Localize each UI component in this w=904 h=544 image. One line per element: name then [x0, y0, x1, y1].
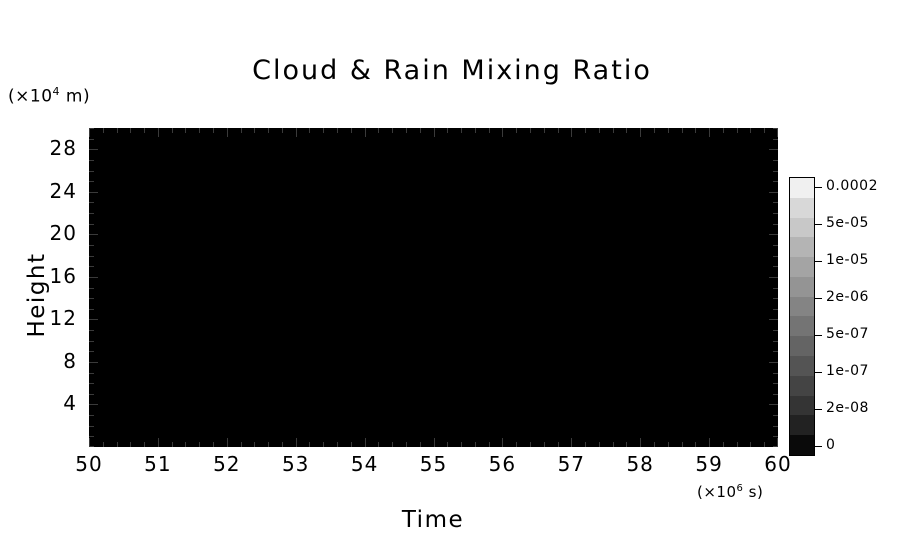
- axis-tick: [89, 128, 94, 129]
- axis-tick: [695, 442, 696, 447]
- axis-tick: [89, 277, 98, 278]
- axis-tick: [89, 298, 94, 299]
- axis-tick: [773, 394, 778, 395]
- axis-tick: [626, 442, 627, 447]
- axis-tick: [709, 438, 710, 447]
- axis-tick: [89, 341, 94, 342]
- axis-tick: [89, 383, 94, 384]
- y-unit-exponent: 4: [53, 85, 61, 98]
- colorbar-tick-label: 0.0002: [826, 178, 878, 194]
- colorbar-segment: [790, 336, 814, 356]
- axis-tick: [365, 438, 366, 447]
- colorbar-tick-label: 5e-07: [826, 326, 869, 342]
- axis-tick: [764, 128, 765, 133]
- axis-tick: [769, 362, 778, 363]
- x-tick-label: 58: [610, 452, 670, 476]
- axis-tick: [773, 160, 778, 161]
- axis-tick: [89, 319, 98, 320]
- heatmap-canvas: [89, 128, 778, 447]
- x-tick-label: 52: [197, 452, 257, 476]
- x-tick-label: 50: [59, 452, 119, 476]
- y-tick-label: 20: [19, 221, 77, 245]
- axis-tick: [489, 442, 490, 447]
- x-tick-label: 57: [541, 452, 601, 476]
- colorbar-tick: [815, 335, 822, 336]
- axis-tick: [773, 351, 778, 352]
- axis-tick: [420, 128, 421, 133]
- axis-tick: [241, 128, 242, 133]
- axis-tick: [447, 128, 448, 133]
- axis-tick: [282, 128, 283, 133]
- axis-tick: [447, 442, 448, 447]
- colorbar-tick: [815, 224, 822, 225]
- axis-tick: [769, 234, 778, 235]
- axis-tick: [773, 309, 778, 310]
- axis-tick: [544, 128, 545, 133]
- colorbar-segment: [790, 356, 814, 376]
- axis-tick: [434, 128, 435, 137]
- axis-tick: [172, 128, 173, 133]
- axis-tick: [296, 128, 297, 137]
- y-tick-label: 16: [19, 264, 77, 288]
- axis-tick: [777, 128, 778, 137]
- axis-tick: [773, 139, 778, 140]
- axis-tick: [773, 341, 778, 342]
- y-unit-prefix: (×10: [8, 87, 53, 107]
- axis-tick: [337, 128, 338, 133]
- colorbar-segment: [790, 297, 814, 317]
- axis-tick: [89, 426, 94, 427]
- colorbar-segment: [790, 376, 814, 396]
- axis-tick: [750, 442, 751, 447]
- axis-tick: [773, 128, 778, 129]
- axis-tick: [773, 213, 778, 214]
- colorbar-tick: [815, 298, 822, 299]
- axis-tick: [213, 442, 214, 447]
- x-axis-title: Time: [0, 507, 866, 533]
- colorbar-tick-label: 0: [826, 437, 835, 453]
- axis-tick: [103, 128, 104, 133]
- colorbar-tick-label: 2e-06: [826, 289, 869, 305]
- y-axis-unit-label: (×104 m): [8, 85, 90, 107]
- axis-tick: [89, 213, 94, 214]
- axis-tick: [489, 128, 490, 133]
- axis-tick: [89, 436, 94, 437]
- axis-tick: [737, 442, 738, 447]
- axis-tick: [668, 128, 669, 133]
- axis-tick: [769, 404, 778, 405]
- axis-tick: [89, 362, 98, 363]
- axis-tick: [158, 438, 159, 447]
- axis-tick: [773, 415, 778, 416]
- axis-tick: [516, 442, 517, 447]
- axis-tick: [599, 128, 600, 133]
- y-tick-label: 28: [19, 136, 77, 160]
- axis-tick: [392, 442, 393, 447]
- colorbar-segment: [790, 277, 814, 297]
- axis-tick: [309, 128, 310, 133]
- axis-tick: [241, 442, 242, 447]
- axis-tick: [773, 298, 778, 299]
- axis-tick: [709, 128, 710, 137]
- x-tick-label: 56: [472, 452, 532, 476]
- axis-tick: [640, 438, 641, 447]
- axis-tick: [764, 442, 765, 447]
- axis-tick: [613, 442, 614, 447]
- colorbar-segment: [790, 178, 814, 198]
- axis-tick: [172, 442, 173, 447]
- axis-tick: [254, 128, 255, 133]
- x-tick-label: 51: [128, 452, 188, 476]
- axis-tick: [144, 128, 145, 133]
- axis-tick: [773, 256, 778, 257]
- axis-tick: [254, 442, 255, 447]
- axis-tick: [89, 288, 94, 289]
- colorbar-segment: [790, 435, 814, 455]
- axis-tick: [737, 128, 738, 133]
- axis-tick: [585, 128, 586, 133]
- axis-tick: [89, 266, 94, 267]
- axis-tick: [296, 438, 297, 447]
- colorbar-tick: [815, 446, 822, 447]
- colorbar-tick-label: 1e-07: [826, 363, 869, 379]
- axis-tick: [268, 128, 269, 133]
- axis-tick: [502, 438, 503, 447]
- x-unit-prefix: (×10: [697, 483, 737, 501]
- axis-tick: [434, 438, 435, 447]
- figure-canvas: Cloud & Rain Mixing Ratio (×104 m) (×106…: [0, 0, 904, 544]
- colorbar-segment: [790, 257, 814, 277]
- axis-tick: [117, 442, 118, 447]
- axis-tick: [323, 128, 324, 133]
- axis-tick: [682, 442, 683, 447]
- axis-tick: [392, 128, 393, 133]
- colorbar-segment: [790, 198, 814, 218]
- colorbar-tick-label: 2e-08: [826, 400, 869, 416]
- axis-tick: [773, 373, 778, 374]
- axis-tick: [502, 128, 503, 137]
- axis-tick: [769, 277, 778, 278]
- axis-tick: [130, 128, 131, 133]
- axis-tick: [309, 442, 310, 447]
- colorbar-tick: [815, 409, 822, 410]
- colorbar-segment: [790, 237, 814, 257]
- axis-tick: [750, 128, 751, 133]
- axis-tick: [337, 442, 338, 447]
- axis-tick: [213, 128, 214, 133]
- axis-tick: [773, 202, 778, 203]
- axis-tick: [378, 128, 379, 133]
- axis-tick: [103, 442, 104, 447]
- axis-tick: [695, 128, 696, 133]
- colorbar-tick: [815, 187, 822, 188]
- x-axis-unit-label: (×106 s): [697, 483, 763, 501]
- axis-tick: [773, 426, 778, 427]
- axis-tick: [558, 128, 559, 133]
- colorbar-tick-label: 1e-05: [826, 252, 869, 268]
- axis-tick: [199, 442, 200, 447]
- axis-tick: [773, 446, 778, 447]
- colorbar-segment: [790, 396, 814, 416]
- colorbar: [789, 177, 815, 456]
- axis-tick: [530, 442, 531, 447]
- axis-tick: [682, 128, 683, 133]
- axis-tick: [89, 171, 94, 172]
- axis-tick: [268, 442, 269, 447]
- axis-tick: [626, 128, 627, 133]
- y-tick-label: 24: [19, 179, 77, 203]
- axis-tick: [227, 438, 228, 447]
- page-title: Cloud & Rain Mixing Ratio: [0, 55, 904, 86]
- x-tick-label: 53: [266, 452, 326, 476]
- colorbar-segment: [790, 218, 814, 238]
- axis-tick: [89, 373, 94, 374]
- axis-tick: [668, 442, 669, 447]
- y-axis-title: Height: [24, 235, 50, 355]
- x-tick-label: 59: [679, 452, 739, 476]
- axis-tick: [530, 128, 531, 133]
- axis-tick: [769, 192, 778, 193]
- axis-tick: [89, 128, 90, 137]
- axis-tick: [773, 224, 778, 225]
- axis-tick: [323, 442, 324, 447]
- axis-tick: [130, 442, 131, 447]
- axis-tick: [475, 128, 476, 133]
- axis-tick: [558, 442, 559, 447]
- axis-tick: [420, 442, 421, 447]
- axis-tick: [89, 245, 94, 246]
- axis-tick: [365, 128, 366, 137]
- axis-tick: [89, 394, 94, 395]
- y-tick-label: 4: [19, 391, 77, 415]
- axis-tick: [773, 171, 778, 172]
- axis-tick: [773, 266, 778, 267]
- axis-tick: [773, 288, 778, 289]
- axis-tick: [89, 330, 94, 331]
- axis-tick: [351, 442, 352, 447]
- axis-tick: [89, 256, 94, 257]
- axis-tick: [89, 149, 98, 150]
- plot-area: [89, 128, 778, 447]
- axis-tick: [89, 139, 94, 140]
- axis-tick: [89, 192, 98, 193]
- axis-tick: [89, 351, 94, 352]
- axis-tick: [89, 446, 94, 447]
- colorbar-tick-label: 5e-05: [826, 215, 869, 231]
- y-tick-label: 8: [19, 349, 77, 373]
- axis-tick: [544, 442, 545, 447]
- y-tick-label: 12: [19, 306, 77, 330]
- axis-tick: [89, 234, 98, 235]
- axis-tick: [773, 245, 778, 246]
- colorbar-segment: [790, 415, 814, 435]
- axis-tick: [185, 442, 186, 447]
- axis-tick: [89, 224, 94, 225]
- axis-tick: [185, 128, 186, 133]
- axis-tick: [571, 438, 572, 447]
- axis-tick: [773, 436, 778, 437]
- axis-tick: [89, 160, 94, 161]
- axis-tick: [351, 128, 352, 133]
- axis-tick: [89, 309, 94, 310]
- axis-tick: [723, 442, 724, 447]
- axis-tick: [406, 128, 407, 133]
- axis-tick: [89, 415, 94, 416]
- axis-tick: [585, 442, 586, 447]
- x-tick-label: 55: [404, 452, 464, 476]
- axis-tick: [773, 383, 778, 384]
- axis-tick: [89, 181, 94, 182]
- colorbar-tick: [815, 261, 822, 262]
- axis-tick: [282, 442, 283, 447]
- colorbar-segment: [790, 316, 814, 336]
- axis-tick: [773, 330, 778, 331]
- axis-tick: [769, 319, 778, 320]
- axis-tick: [144, 442, 145, 447]
- x-unit-suffix: s): [743, 483, 763, 501]
- axis-tick: [461, 442, 462, 447]
- axis-tick: [769, 149, 778, 150]
- colorbar-tick: [815, 372, 822, 373]
- axis-tick: [378, 442, 379, 447]
- axis-tick: [599, 442, 600, 447]
- axis-tick: [158, 128, 159, 137]
- axis-tick: [117, 128, 118, 133]
- axis-tick: [199, 128, 200, 133]
- y-unit-suffix: m): [60, 87, 90, 107]
- axis-tick: [613, 128, 614, 133]
- axis-tick: [571, 128, 572, 137]
- axis-tick: [516, 128, 517, 133]
- axis-tick: [723, 128, 724, 133]
- axis-tick: [89, 202, 94, 203]
- axis-tick: [654, 442, 655, 447]
- axis-tick: [461, 128, 462, 133]
- axis-tick: [475, 442, 476, 447]
- axis-tick: [773, 181, 778, 182]
- axis-tick: [406, 442, 407, 447]
- axis-tick: [640, 128, 641, 137]
- axis-tick: [654, 128, 655, 133]
- axis-tick: [227, 128, 228, 137]
- x-tick-label: 54: [335, 452, 395, 476]
- axis-tick: [89, 404, 98, 405]
